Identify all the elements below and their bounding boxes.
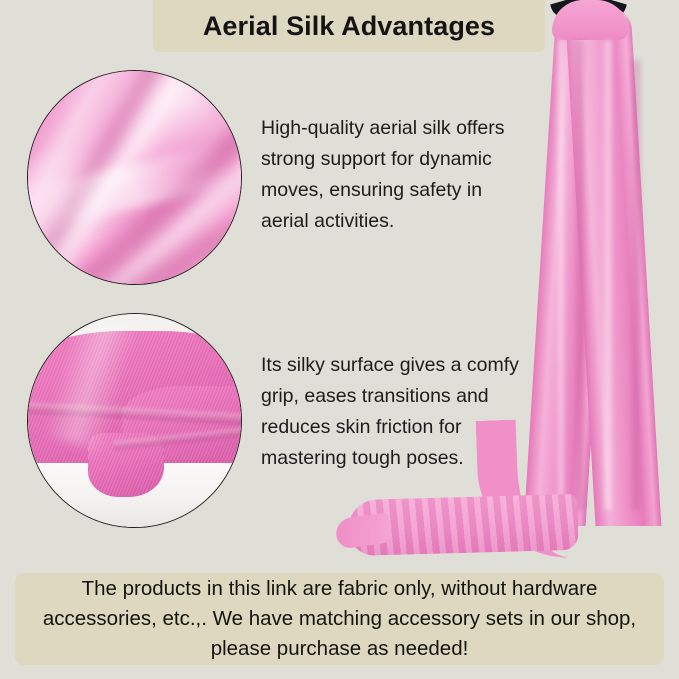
feature-image-folded-fabric (27, 313, 242, 528)
feature-image-satin-drape (27, 70, 242, 285)
folded-fabric-artwork (28, 314, 241, 527)
product-image-hanging-silk (330, 0, 679, 575)
silk-top-gather (552, 0, 628, 40)
product-infographic: Aerial Silk Advantages High-quality aeri… (0, 0, 679, 679)
disclaimer-text: The products in this link are fabric onl… (25, 574, 654, 664)
disclaimer-banner: The products in this link are fabric onl… (15, 573, 664, 665)
satin-drape-artwork (28, 71, 241, 284)
